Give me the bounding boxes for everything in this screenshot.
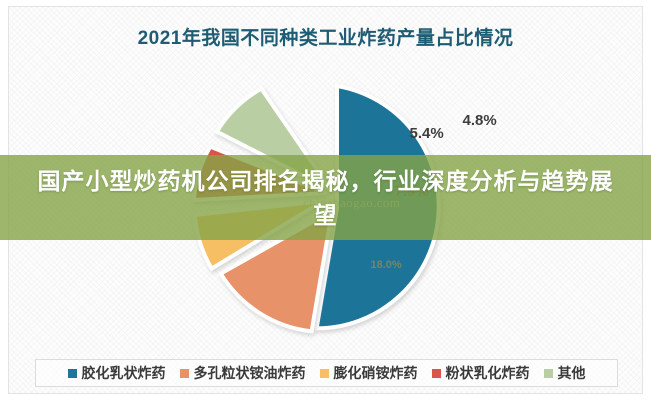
legend-swatch-icon xyxy=(432,369,441,378)
headline-banner: 国产小型炒药机公司排名揭秘，行业深度分析与趋势展望 xyxy=(0,155,651,240)
legend-item-label: 胶化乳状炸药 xyxy=(82,363,166,383)
pie-label-duokong-lizhuang: 18.0% xyxy=(371,259,402,271)
legend-item-label: 多孔粒状铵油炸药 xyxy=(194,363,306,383)
legend-swatch-icon xyxy=(320,369,329,378)
legend-swatch-icon xyxy=(544,369,553,378)
chart-title: 2021年我国不同种类工业炸药产量占比情况 xyxy=(9,23,642,50)
legend-item-pengha-xiaoan[interactable]: 膨化硝铵炸药 xyxy=(320,363,418,383)
legend-item-jiaohua-ruzhuang[interactable]: 胶化乳状炸药 xyxy=(68,363,166,383)
legend-item-label: 膨化硝铵炸药 xyxy=(334,363,418,383)
legend-item-label: 其他 xyxy=(558,363,586,383)
legend-swatch-icon xyxy=(180,369,189,378)
legend-swatch-icon xyxy=(68,369,77,378)
legend-item-fenzhuang-ruhua[interactable]: 粉状乳化炸药 xyxy=(432,363,530,383)
pie-label-fenzhuang-ruhua: 5.4% xyxy=(410,125,444,142)
legend-item-label: 粉状乳化炸药 xyxy=(446,363,530,383)
legend-item-qita[interactable]: 其他 xyxy=(544,363,586,383)
pie-label-qita: 4.8% xyxy=(463,112,497,129)
legend-item-duokong-lizhuang[interactable]: 多孔粒状铵油炸药 xyxy=(180,363,306,383)
chart-legend: 胶化乳状炸药 多孔粒状铵油炸药 膨化硝铵炸药 粉状乳化炸药 其他 xyxy=(35,359,618,387)
headline-text: 国产小型炒药机公司排名揭秘，行业深度分析与趋势展望 xyxy=(31,164,621,232)
